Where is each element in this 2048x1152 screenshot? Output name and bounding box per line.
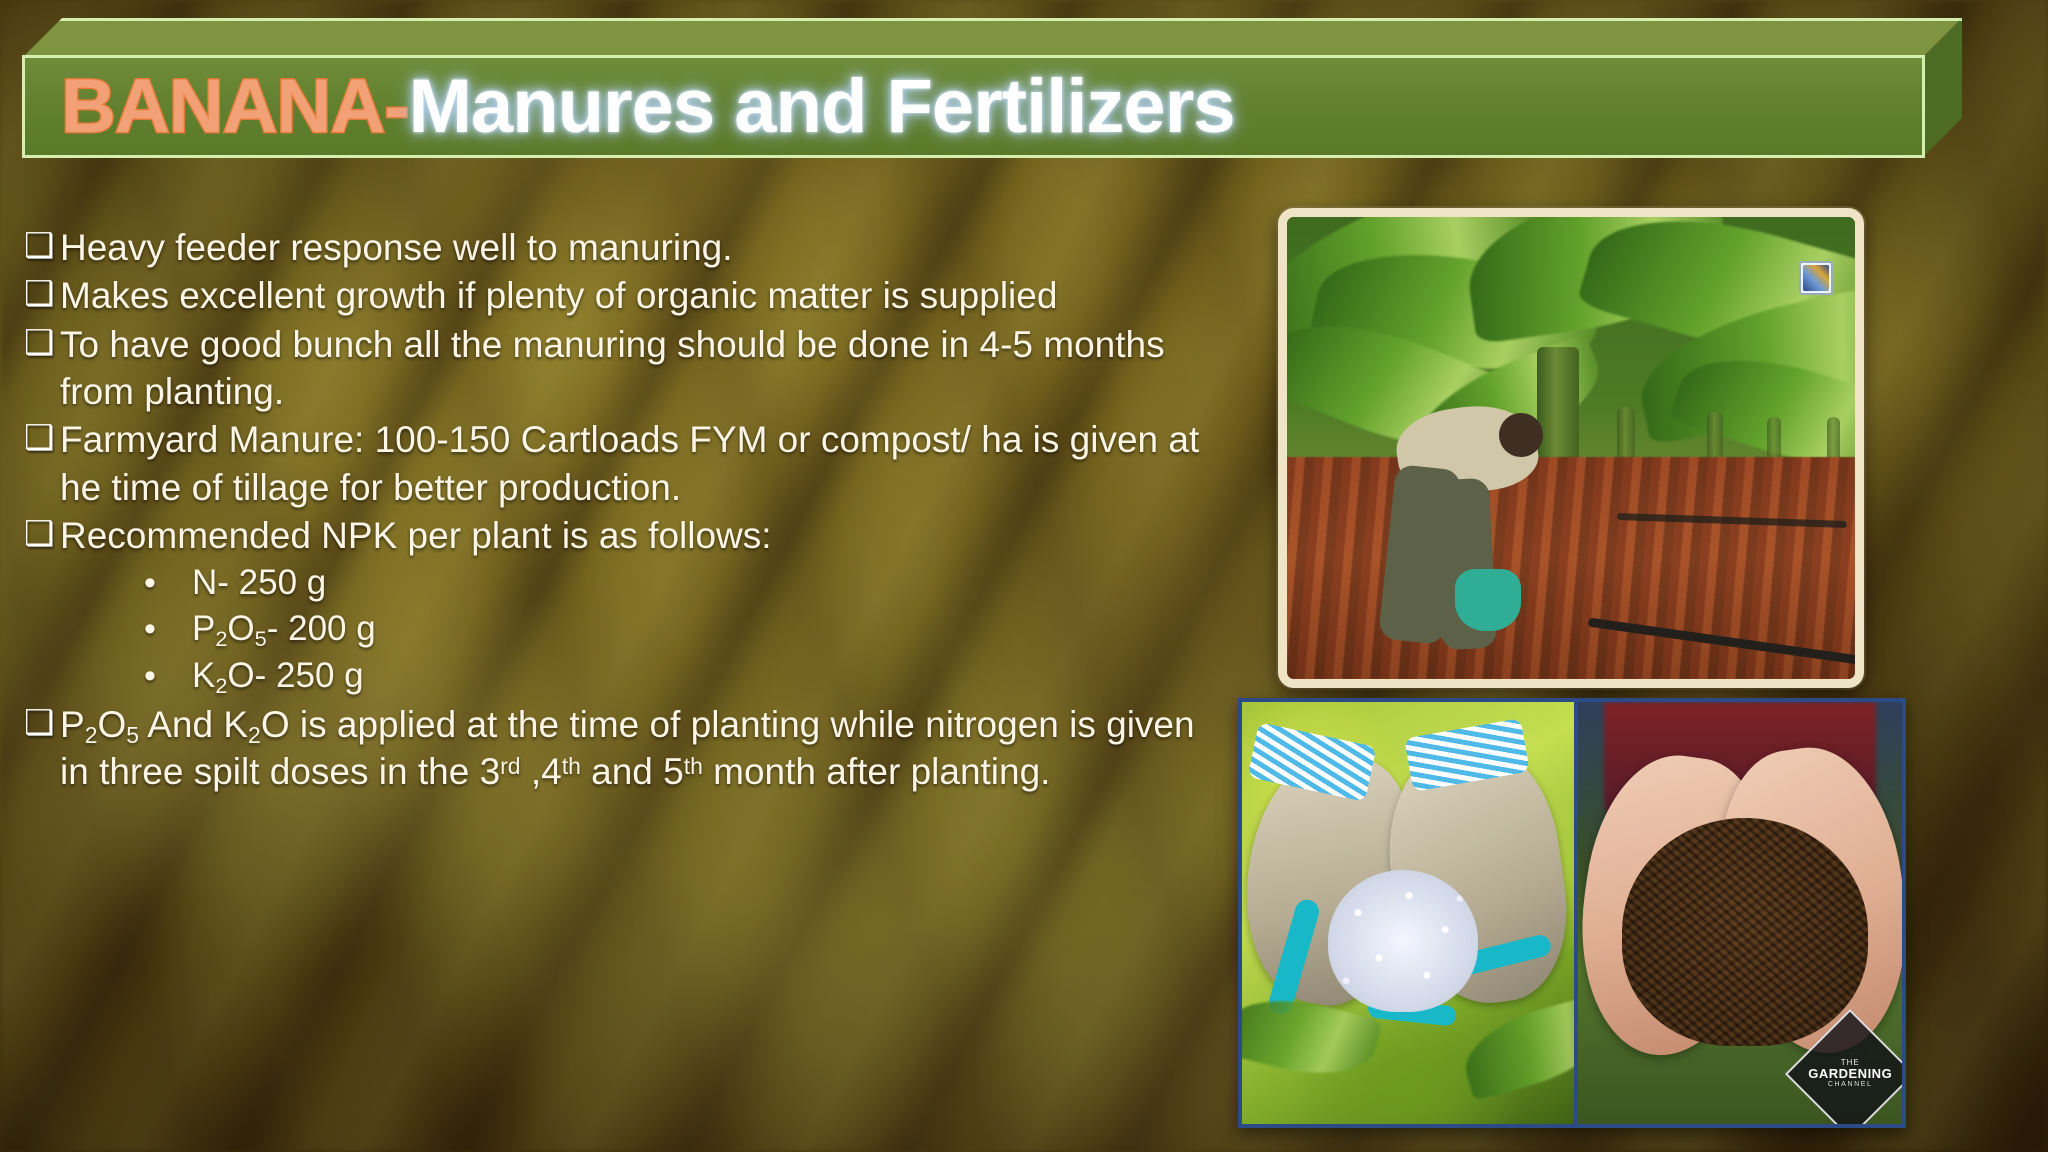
list-item: ❑ Heavy feeder response well to manuring…: [24, 224, 1204, 271]
ordinal-number: 5: [663, 751, 684, 792]
sub-list-item-label: P2O5- 200 g: [192, 607, 376, 652]
chem-subscript: 5: [126, 722, 139, 748]
chem-element: O: [261, 704, 290, 745]
sub-list-item: • P2O5- 200 g: [144, 607, 1204, 652]
compost-soil: [1622, 818, 1868, 1046]
chem-element: O: [97, 704, 126, 745]
title-banner-front-face: BANANA-Manures and Fertilizers: [22, 55, 1925, 158]
title-banner: BANANA-Manures and Fertilizers: [22, 18, 1962, 158]
list-item-label: Heavy feeder response well to manuring.: [60, 224, 1204, 271]
title-rest: Manures and Fertilizers: [409, 64, 1235, 149]
list-item-label: P2O5 And K2O is applied at the time of p…: [60, 701, 1204, 796]
sub-list-item: • N- 250 g: [144, 561, 1204, 606]
sub-list-item-label: N- 250 g: [192, 561, 326, 606]
bullet-list: ❑ Heavy feeder response well to manuring…: [24, 224, 1204, 797]
list-item: ❑ P2O5 And K2O is applied at the time of…: [24, 701, 1204, 796]
fertilizer-granules: [1328, 870, 1478, 1012]
image-fertilizer-granules: [1242, 702, 1574, 1124]
chem-element: K: [223, 704, 248, 745]
list-item: ❑ Makes excellent growth if plenty of or…: [24, 272, 1204, 319]
chem-subscript: 2: [85, 722, 98, 748]
chem-element: P: [192, 609, 215, 648]
chem-amount: - 250 g: [255, 656, 364, 695]
chem-element: N: [192, 563, 217, 602]
ordinal-number: 3: [480, 751, 501, 792]
square-bullet-icon: ❑: [24, 321, 60, 367]
list-item: ❑ To have good bunch all the manuring sh…: [24, 321, 1204, 416]
ordinal-suffix: th: [562, 753, 581, 779]
dot-bullet-icon: •: [144, 654, 192, 698]
square-bullet-icon: ❑: [24, 701, 60, 747]
chem-subscript: 2: [215, 626, 227, 651]
chem-subscript: 2: [215, 673, 227, 698]
chem-amount: - 200 g: [267, 609, 376, 648]
list-item-label: Makes excellent growth if plenty of orga…: [60, 272, 1204, 319]
image-pair: THE GARDENING CHANNEL: [1238, 698, 1906, 1128]
list-item: ❑ Recommended NPK per plant is as follow…: [24, 512, 1204, 559]
broadcast-logo-icon: [1799, 261, 1833, 295]
square-bullet-icon: ❑: [24, 224, 60, 270]
watermark-the: THE: [1808, 1059, 1892, 1067]
dot-bullet-icon: •: [144, 607, 192, 651]
ordinal-number: 4: [541, 751, 562, 792]
sub-list-item: • K2O- 250 g: [144, 654, 1204, 699]
list-item-label: Farmyard Manure: 100-150 Cartloads FYM o…: [60, 416, 1204, 511]
page-title: BANANA-Manures and Fertilizers: [61, 69, 1235, 145]
chem-element: K: [192, 656, 215, 695]
image-compost-handful: THE GARDENING CHANNEL: [1574, 702, 1902, 1124]
chem-element: O: [227, 656, 254, 695]
ordinal-suffix: th: [684, 753, 703, 779]
bucket-icon: [1455, 569, 1521, 631]
chem-subscript: 2: [248, 722, 261, 748]
chem-element: O: [227, 609, 254, 648]
watermark-main: GARDENING: [1808, 1068, 1892, 1082]
presentation-slide: BANANA-Manures and Fertilizers ❑ Heavy f…: [0, 0, 2048, 1152]
image-banana-plantation: [1278, 208, 1864, 688]
text-fragment: And: [139, 704, 223, 745]
square-bullet-icon: ❑: [24, 512, 60, 558]
square-bullet-icon: ❑: [24, 272, 60, 318]
dot-bullet-icon: •: [144, 561, 192, 605]
ordinal-suffix: rd: [500, 753, 520, 779]
list-item-label: To have good bunch all the manuring shou…: [60, 321, 1204, 416]
text-fragment: month after planting.: [703, 751, 1051, 792]
title-highlight: BANANA-: [61, 64, 409, 149]
watermark-sub: CHANNEL: [1808, 1081, 1892, 1088]
list-item-label: Recommended NPK per plant is as follows:: [60, 512, 1204, 559]
list-item: ❑ Farmyard Manure: 100-150 Cartloads FYM…: [24, 416, 1204, 511]
text-fragment: ,: [521, 751, 542, 792]
title-banner-top-face: [22, 18, 1962, 58]
chem-element: P: [60, 704, 85, 745]
sub-list-item-label: K2O- 250 g: [192, 654, 364, 699]
chem-amount: - 250 g: [217, 563, 326, 602]
text-fragment: and: [581, 751, 663, 792]
square-bullet-icon: ❑: [24, 416, 60, 462]
chem-subscript: 5: [255, 626, 267, 651]
